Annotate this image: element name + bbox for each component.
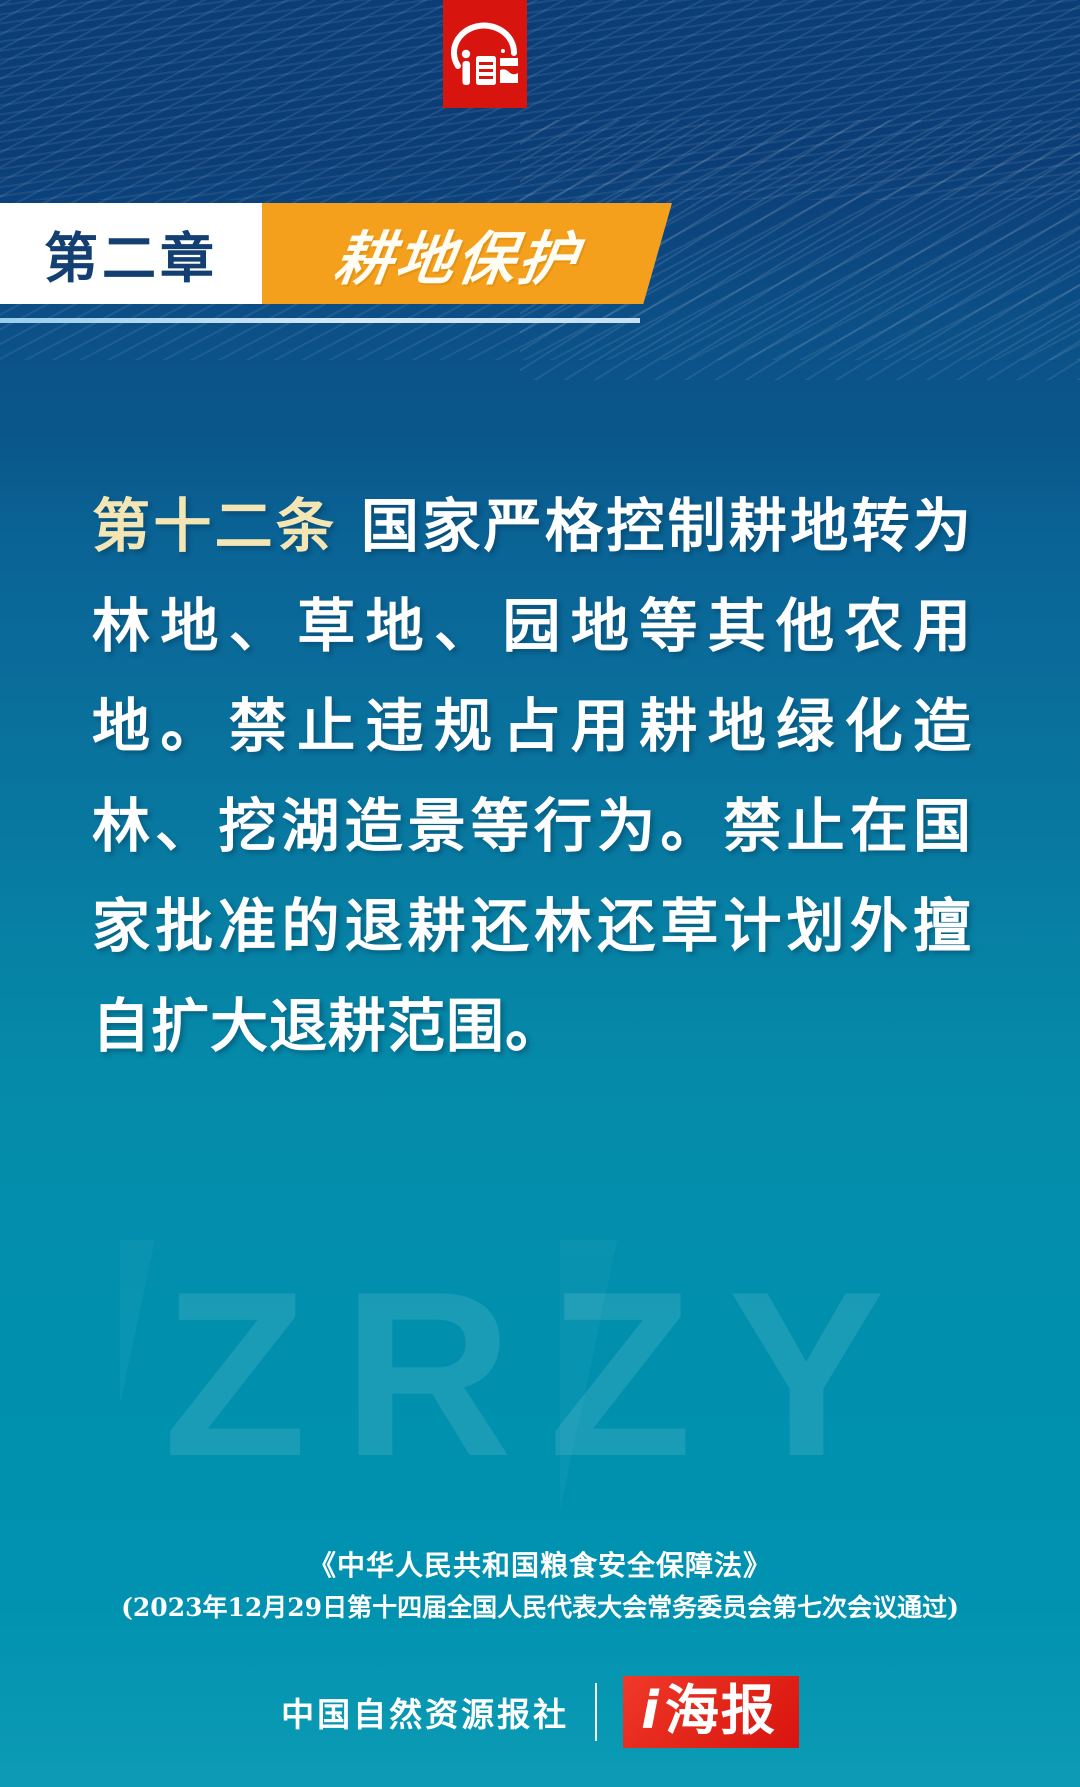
chapter-banner: 第二章 耕地保护 — [0, 203, 672, 304]
article-number: 第十二条 — [92, 492, 337, 560]
zrzy-watermark: ZRZY — [0, 1256, 1080, 1491]
footer-divider — [595, 1683, 597, 1741]
chapter-banner-underline — [0, 318, 640, 323]
law-title: 《中华人民共和国粮食安全保障法》 — [0, 1546, 1080, 1586]
chapter-title-block: 耕地保护 — [262, 203, 672, 304]
ihaibao-label: 海报 — [665, 1684, 777, 1738]
ihaibao-badge: i 海报 — [623, 1676, 799, 1748]
publisher-name: 中国自然资源报社 — [281, 1688, 569, 1736]
law-adoption-meta: (2023年12月29日第十四届全国人民代表大会常务委员会第七次会议通过) — [0, 1588, 1080, 1628]
article-paragraph: 第十二条 国家严格控制耕地转为林地、草地、园地等其他农用地。禁止违规占用耕地绿化… — [92, 476, 972, 1076]
article-body: 第十二条 国家严格控制耕地转为林地、草地、园地等其他农用地。禁止违规占用耕地绿化… — [92, 476, 972, 1076]
ihaibao-i-letter: i — [641, 1685, 659, 1737]
diagonal-texture-decor-secondary — [0, 0, 1080, 200]
i-ziran-logo — [443, 0, 527, 108]
chapter-number-label: 第二章 — [44, 214, 218, 293]
article-text: 国家严格控制耕地转为林地、草地、园地等其他农用地。禁止违规占用耕地绿化造林、挖湖… — [92, 492, 972, 1060]
chapter-title-label: 耕地保护 — [330, 212, 604, 296]
poster-footer: 中国自然资源报社 i 海报 — [0, 1676, 1080, 1748]
diagonal-texture-decor — [0, 0, 1080, 360]
source-citation: 《中华人民共和国粮食安全保障法》 (2023年12月29日第十四届全国人民代表大… — [0, 1546, 1080, 1628]
poster-canvas: 第二章 耕地保护 第十二条 国家严格控制耕地转为林地、草地、园地等其他农用地。禁… — [0, 0, 1080, 1787]
chapter-number-block: 第二章 — [0, 203, 262, 304]
